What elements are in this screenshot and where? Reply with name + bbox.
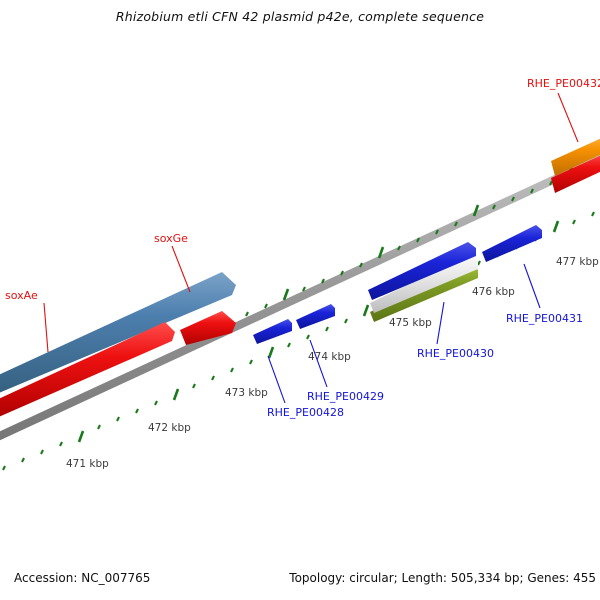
gene-label-soxGe[interactable]: soxGe [154, 232, 188, 245]
gene-label-RHE_PE00428[interactable]: RHE_PE00428 [267, 406, 344, 419]
feature-RHE_PE00432-group[interactable] [551, 136, 600, 193]
gene-label-RHE_PE00432[interactable]: RHE_PE00432 [527, 77, 600, 90]
feature-RHE_PE00428-bar[interactable] [253, 319, 292, 344]
leader-line-RHE_PE00429 [310, 340, 327, 387]
feature-RHE_PE00429-bar[interactable] [296, 304, 335, 329]
genome-map-page: Rhizobium etli CFN 42 plasmid p42e, comp… [0, 0, 600, 600]
ruler-tick-label-477: 477 kbp [556, 256, 599, 268]
ruler-tick-label-473: 473 kbp [225, 387, 268, 399]
gene-label-RHE_PE00431[interactable]: RHE_PE00431 [506, 312, 583, 325]
leader-line-RHE_PE00428 [268, 356, 285, 403]
gene-label-RHE_PE00430[interactable]: RHE_PE00430 [417, 347, 494, 360]
accession-text: Accession: NC_007765 [14, 571, 150, 585]
ruler-tick-label-476: 476 kbp [472, 286, 515, 298]
leader-line-soxGe [172, 246, 190, 292]
genome-map-canvas[interactable]: 471 kbp 472 kbp 473 kbp 474 kbp 475 kbp … [0, 0, 600, 600]
leader-line-RHE_PE00432 [558, 93, 578, 142]
ruler-tick-label-475: 475 kbp [389, 317, 432, 329]
ruler-tick-label-471: 471 kbp [66, 458, 109, 470]
gene-label-RHE_PE00429[interactable]: RHE_PE00429 [307, 390, 384, 403]
gene-label-soxAe[interactable]: soxAe [5, 289, 38, 302]
leader-line-soxAe [44, 303, 48, 352]
ruler-tick-label-472: 472 kbp [148, 422, 191, 434]
leader-line-RHE_PE00430 [437, 302, 444, 344]
sequence-summary-text: Topology: circular; Length: 505,334 bp; … [289, 571, 596, 585]
leader-line-RHE_PE00431 [524, 264, 540, 308]
feature-RHE_PE00431-bar[interactable] [482, 225, 542, 262]
